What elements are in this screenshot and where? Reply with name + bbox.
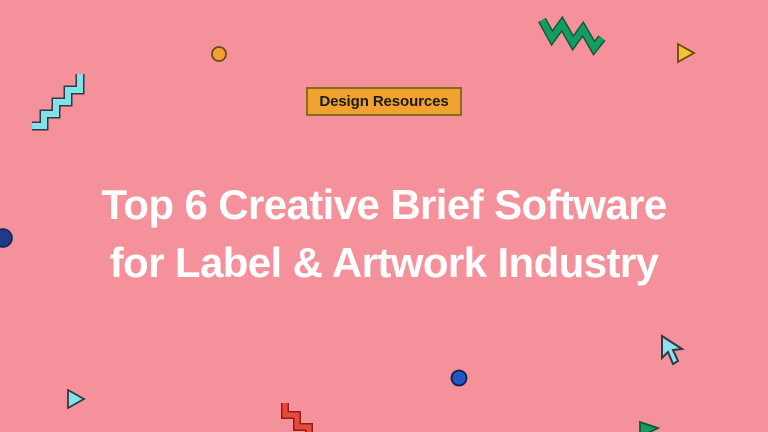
- cursor-arrow-icon: [660, 334, 688, 368]
- green-triangle: [638, 420, 660, 432]
- slide-canvas: Design Resources Top 6 Creative Brief So…: [0, 0, 768, 432]
- cyan-staircase-zigzag: [30, 70, 90, 128]
- yellow-triangle: [676, 42, 696, 64]
- page-title: Top 6 Creative Brief Software for Label …: [0, 176, 768, 292]
- green-zigzag: [539, 16, 605, 64]
- category-badge-label: Design Resources: [319, 94, 448, 109]
- page-title-line-1: Top 6 Creative Brief Software: [0, 176, 768, 234]
- page-title-line-2: for Label & Artwork Industry: [0, 234, 768, 292]
- cyan-triangle: [66, 388, 86, 410]
- orange-dot: [210, 45, 228, 63]
- blue-dot: [450, 369, 468, 387]
- category-badge[interactable]: Design Resources: [306, 87, 462, 116]
- red-staircase-zigzag: [281, 401, 323, 432]
